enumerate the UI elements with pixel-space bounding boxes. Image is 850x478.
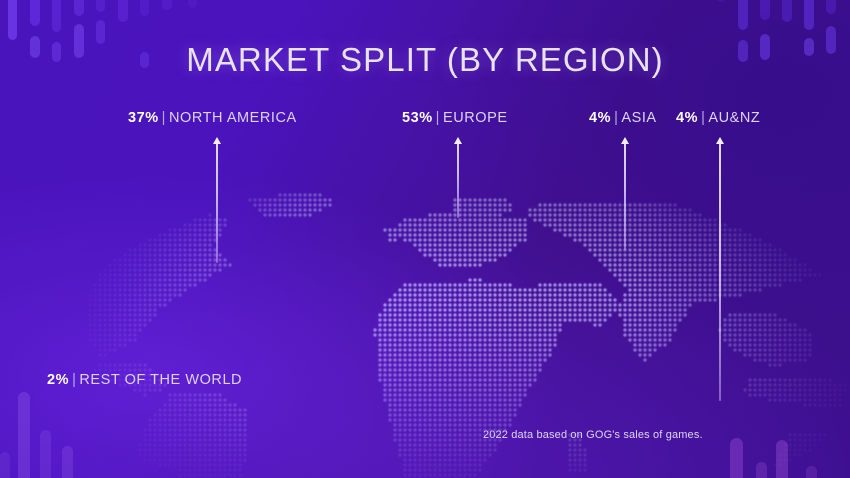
- callout-region: NORTH AMERICA: [169, 110, 297, 126]
- source-footnote: 2022 data based on GOG's sales of games.: [483, 429, 703, 441]
- callout-arrow-au-nz: [719, 138, 721, 401]
- decor-bar: [756, 462, 767, 478]
- slide-canvas: MARKET SPLIT (BY REGION) 37%|NORTH AMERI…: [0, 0, 850, 478]
- decor-bar: [0, 452, 10, 478]
- decor-bar: [40, 430, 51, 478]
- decor-bar: [140, 0, 149, 16]
- page-title: MARKET SPLIT (BY REGION): [0, 41, 850, 79]
- decor-bar: [62, 446, 73, 478]
- callout-arrow-north-america: [216, 138, 218, 263]
- callout-region: AU&NZ: [708, 110, 760, 126]
- decor-bar: [188, 0, 197, 8]
- decor-bar: [8, 0, 17, 40]
- decor-bar: [804, 0, 814, 30]
- callout-au-nz: 4%|AU&NZ: [676, 111, 760, 126]
- decor-bar: [162, 0, 172, 10]
- callout-separator: |: [436, 110, 440, 126]
- callout-north-america: 37%|NORTH AMERICA: [128, 111, 297, 126]
- callout-separator: |: [162, 110, 166, 126]
- callout-asia: 4%|ASIA: [589, 111, 657, 126]
- decor-bar: [74, 0, 84, 16]
- callout-separator: |: [614, 110, 618, 126]
- decor-bar: [826, 0, 836, 14]
- decor-bar: [760, 0, 770, 20]
- callout-arrow-europe: [457, 138, 459, 218]
- callout-percent: 4%: [676, 110, 698, 126]
- decor-bar: [738, 0, 748, 30]
- callout-percent: 2%: [47, 372, 69, 388]
- callout-region: ASIA: [621, 110, 656, 126]
- callout-rest-of-the-world: 2%|REST OF THE WORLD: [47, 373, 242, 388]
- callout-region: REST OF THE WORLD: [79, 372, 242, 388]
- decor-bar: [52, 0, 61, 32]
- callout-europe: 53%|EUROPE: [402, 111, 508, 126]
- callout-separator: |: [701, 110, 705, 126]
- decor-bar: [776, 440, 788, 478]
- decor-bar: [118, 0, 128, 22]
- decor-bar: [96, 0, 105, 12]
- callout-percent: 53%: [402, 110, 433, 126]
- decor-bar: [806, 466, 817, 478]
- decor-bar: [730, 438, 743, 478]
- callout-region: EUROPE: [443, 110, 508, 126]
- callout-separator: |: [72, 372, 76, 388]
- callout-percent: 37%: [128, 110, 159, 126]
- decor-bar: [716, 0, 725, 2]
- decor-bar: [30, 0, 40, 26]
- callout-arrow-asia: [624, 138, 626, 250]
- decor-bar: [18, 392, 30, 478]
- callout-percent: 4%: [589, 110, 611, 126]
- decor-bar: [782, 0, 792, 22]
